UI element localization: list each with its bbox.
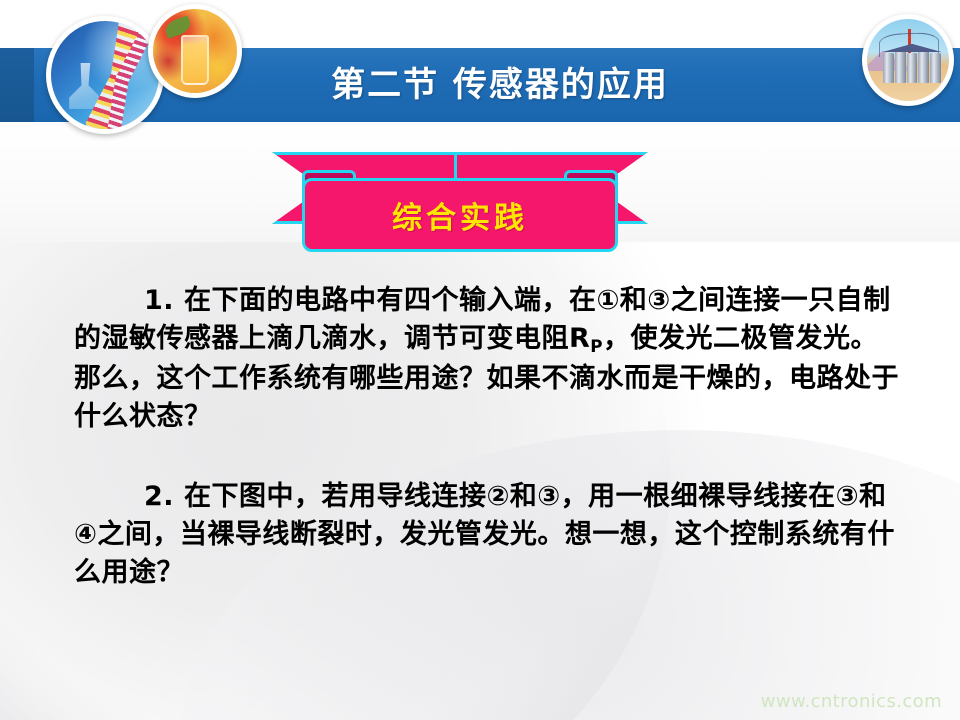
footer-watermark: www.cntronics.com [761, 691, 942, 712]
dna-microscope-badge [46, 16, 164, 134]
grain-silo-badge [862, 14, 954, 106]
slide-canvas: 第二节 传感器的应用 [0, 0, 960, 720]
section-ribbon: 综合实践 [272, 152, 648, 252]
ribbon-label: 综合实践 [392, 193, 528, 237]
silo-can [895, 49, 906, 83]
dna-microscope-badge-image [51, 21, 159, 129]
silo-can [930, 53, 941, 83]
paragraph-1-subscript: P [590, 336, 603, 356]
slide-body: 1. 在下面的电路中有四个输入端，在①和③之间连接一只自制的湿敏传感器上滴几滴水… [74, 282, 902, 592]
fruit-juice-badge [148, 4, 242, 98]
paragraph-2-text: 2. 在下图中，若用导线连接②和③，用一根细裸导线接在③和④之间，当裸导线断裂时… [74, 481, 895, 588]
paragraph-2: 2. 在下图中，若用导线连接②和③，用一根细裸导线接在③和④之间，当裸导线断裂时… [74, 478, 902, 592]
paragraph-1: 1. 在下面的电路中有四个输入端，在①和③之间连接一只自制的湿敏传感器上滴几滴水… [74, 282, 902, 436]
silo-can [907, 53, 918, 83]
silo-group-icon [883, 49, 941, 83]
juice-glass-icon [181, 35, 209, 85]
ribbon-plate: 综合实践 [302, 178, 618, 252]
silo-can [883, 53, 894, 83]
fruit-juice-badge-image [153, 9, 237, 93]
grain-silo-badge-image [867, 19, 949, 101]
silo-can [918, 49, 929, 83]
